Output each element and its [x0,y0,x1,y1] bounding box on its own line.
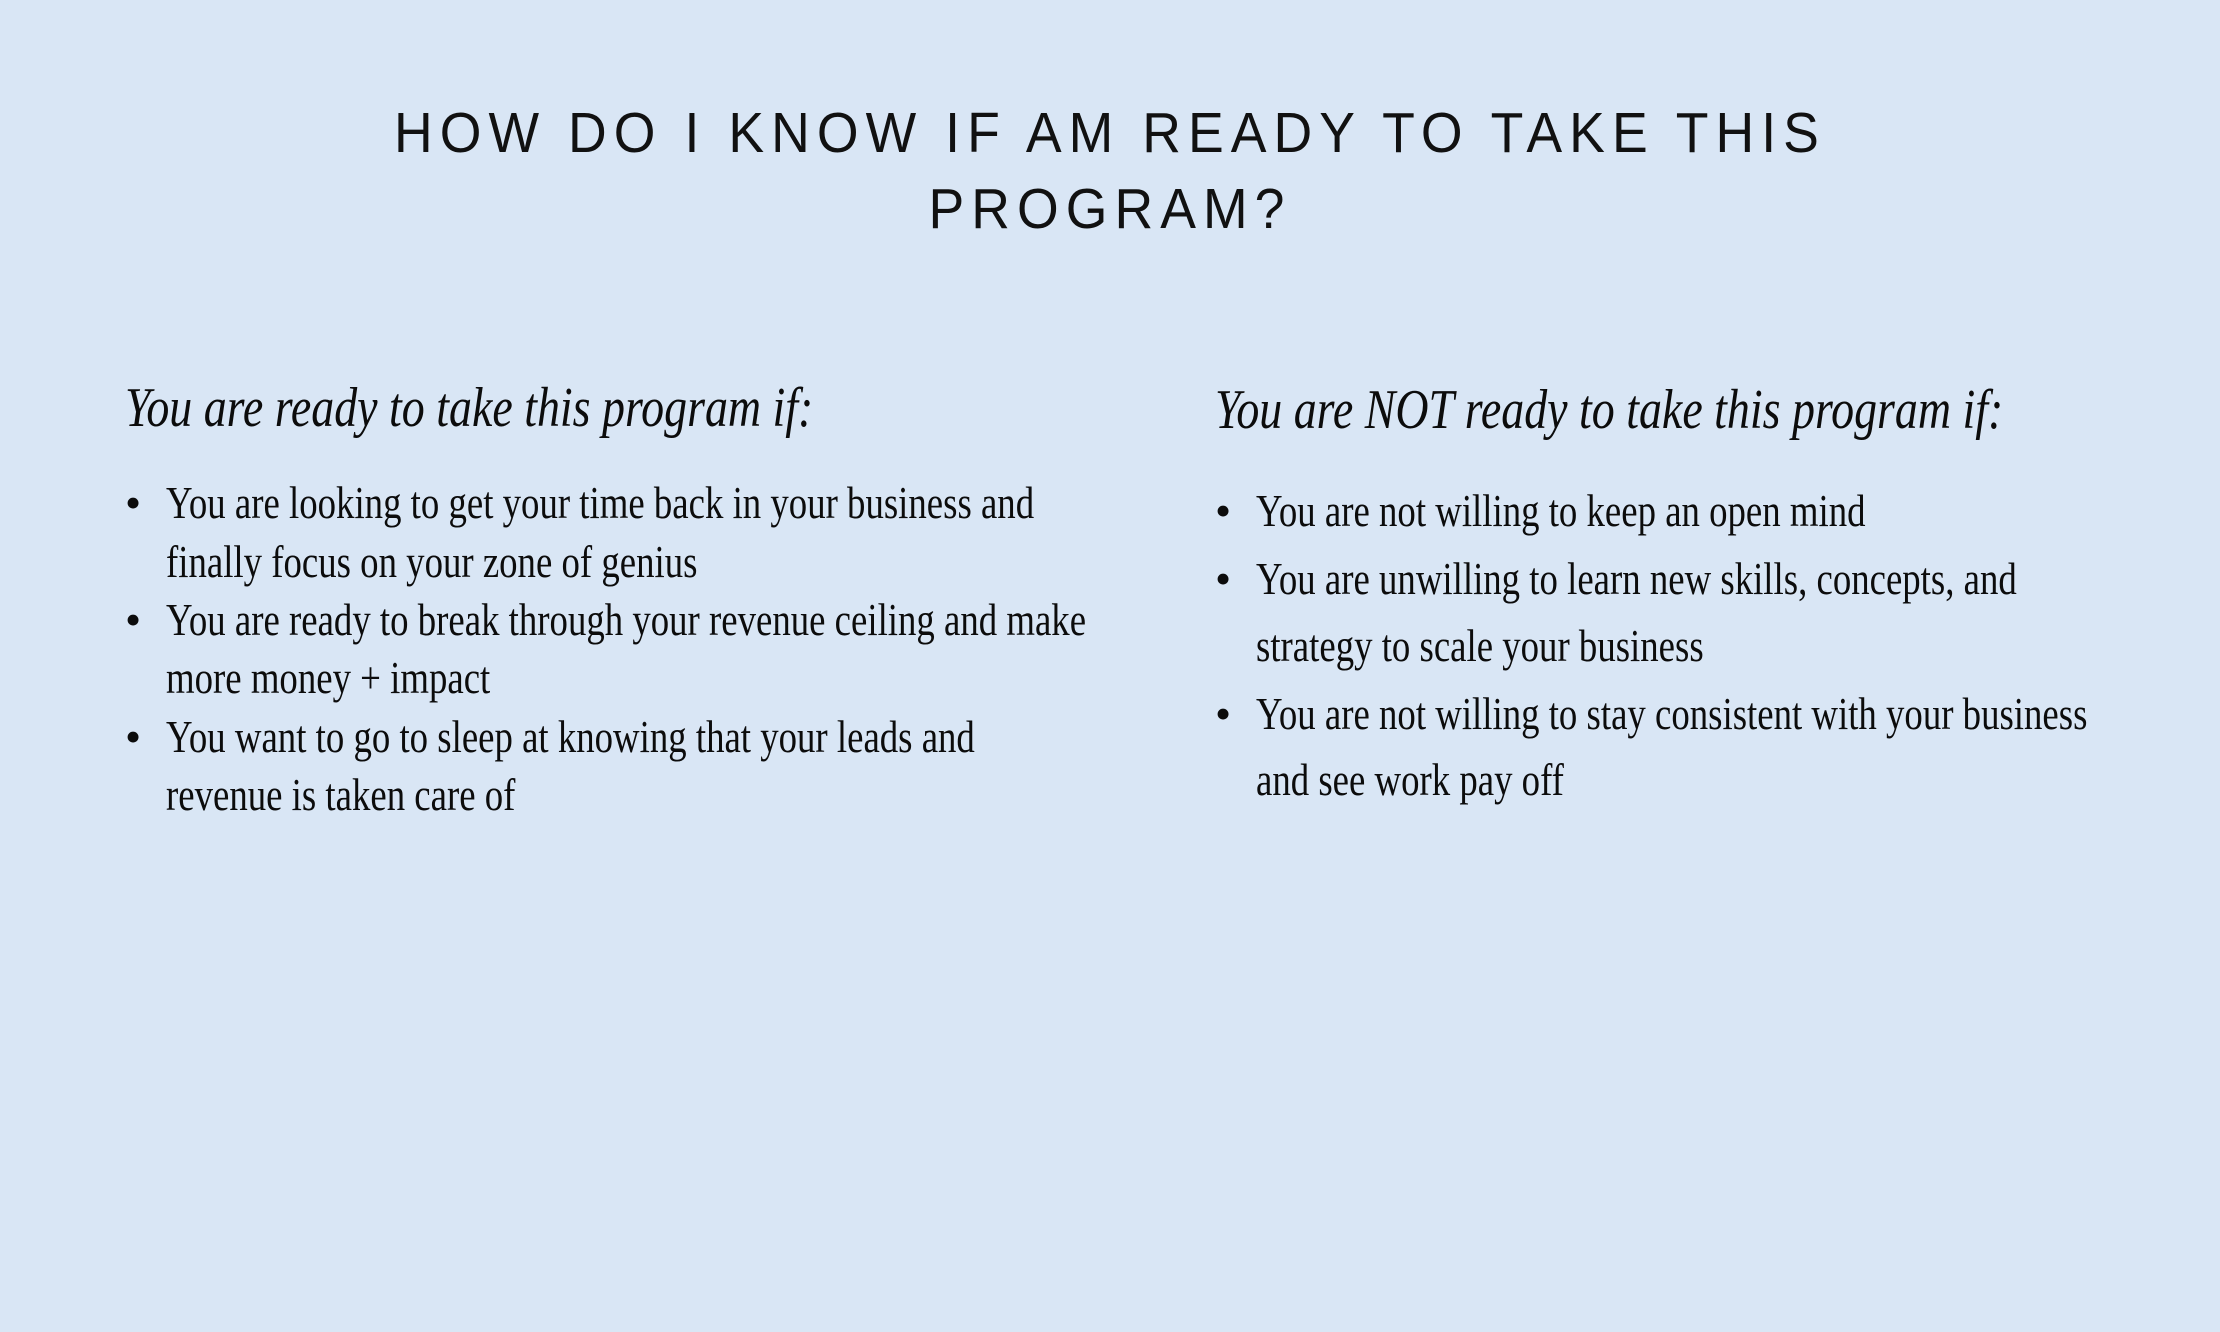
list-item: • You are not willing to keep an open mi… [1215,478,2120,544]
list-item: • You are unwilling to learn new skills,… [1215,546,2120,678]
bullet-icon: • [125,474,141,532]
bullet-icon: • [125,591,141,649]
column-ready: You are ready to take this program if: •… [0,372,1140,825]
page-title: HOW DO I KNOW IF AM READY TO TAKE THIS P… [349,96,1872,248]
list-item-label: You are ready to break through your reve… [166,591,1090,708]
bullet-icon: • [1215,478,1231,544]
list-item: • You want to go to sleep at knowing tha… [125,708,1090,825]
column-heading-ready: You are ready to take this program if: [125,372,1090,444]
slide-canvas: HOW DO I KNOW IF AM READY TO TAKE THIS P… [0,0,2220,1332]
bullet-list-ready: • You are looking to get your time back … [125,474,1090,824]
list-item: • You are not willing to stay consistent… [1215,681,2120,813]
bullet-icon: • [125,708,141,766]
bullet-icon: • [1215,546,1231,612]
two-column-layout: You are ready to take this program if: •… [0,372,2220,825]
column-not-ready: You are NOT ready to take this program i… [1140,372,2220,815]
bullet-icon: • [1215,681,1231,747]
list-item: • You are looking to get your time back … [125,474,1090,591]
column-heading-not-ready: You are NOT ready to take this program i… [1215,374,2120,446]
list-item: • You are ready to break through your re… [125,591,1090,708]
list-item-label: You are not willing to stay consistent w… [1256,681,2120,813]
list-item-label: You want to go to sleep at knowing that … [166,708,1090,825]
bullet-list-not-ready: • You are not willing to keep an open mi… [1215,478,2120,813]
list-item-label: You are not willing to keep an open mind [1256,478,2120,544]
list-item-label: You are unwilling to learn new skills, c… [1256,546,2120,678]
list-item-label: You are looking to get your time back in… [166,474,1090,591]
